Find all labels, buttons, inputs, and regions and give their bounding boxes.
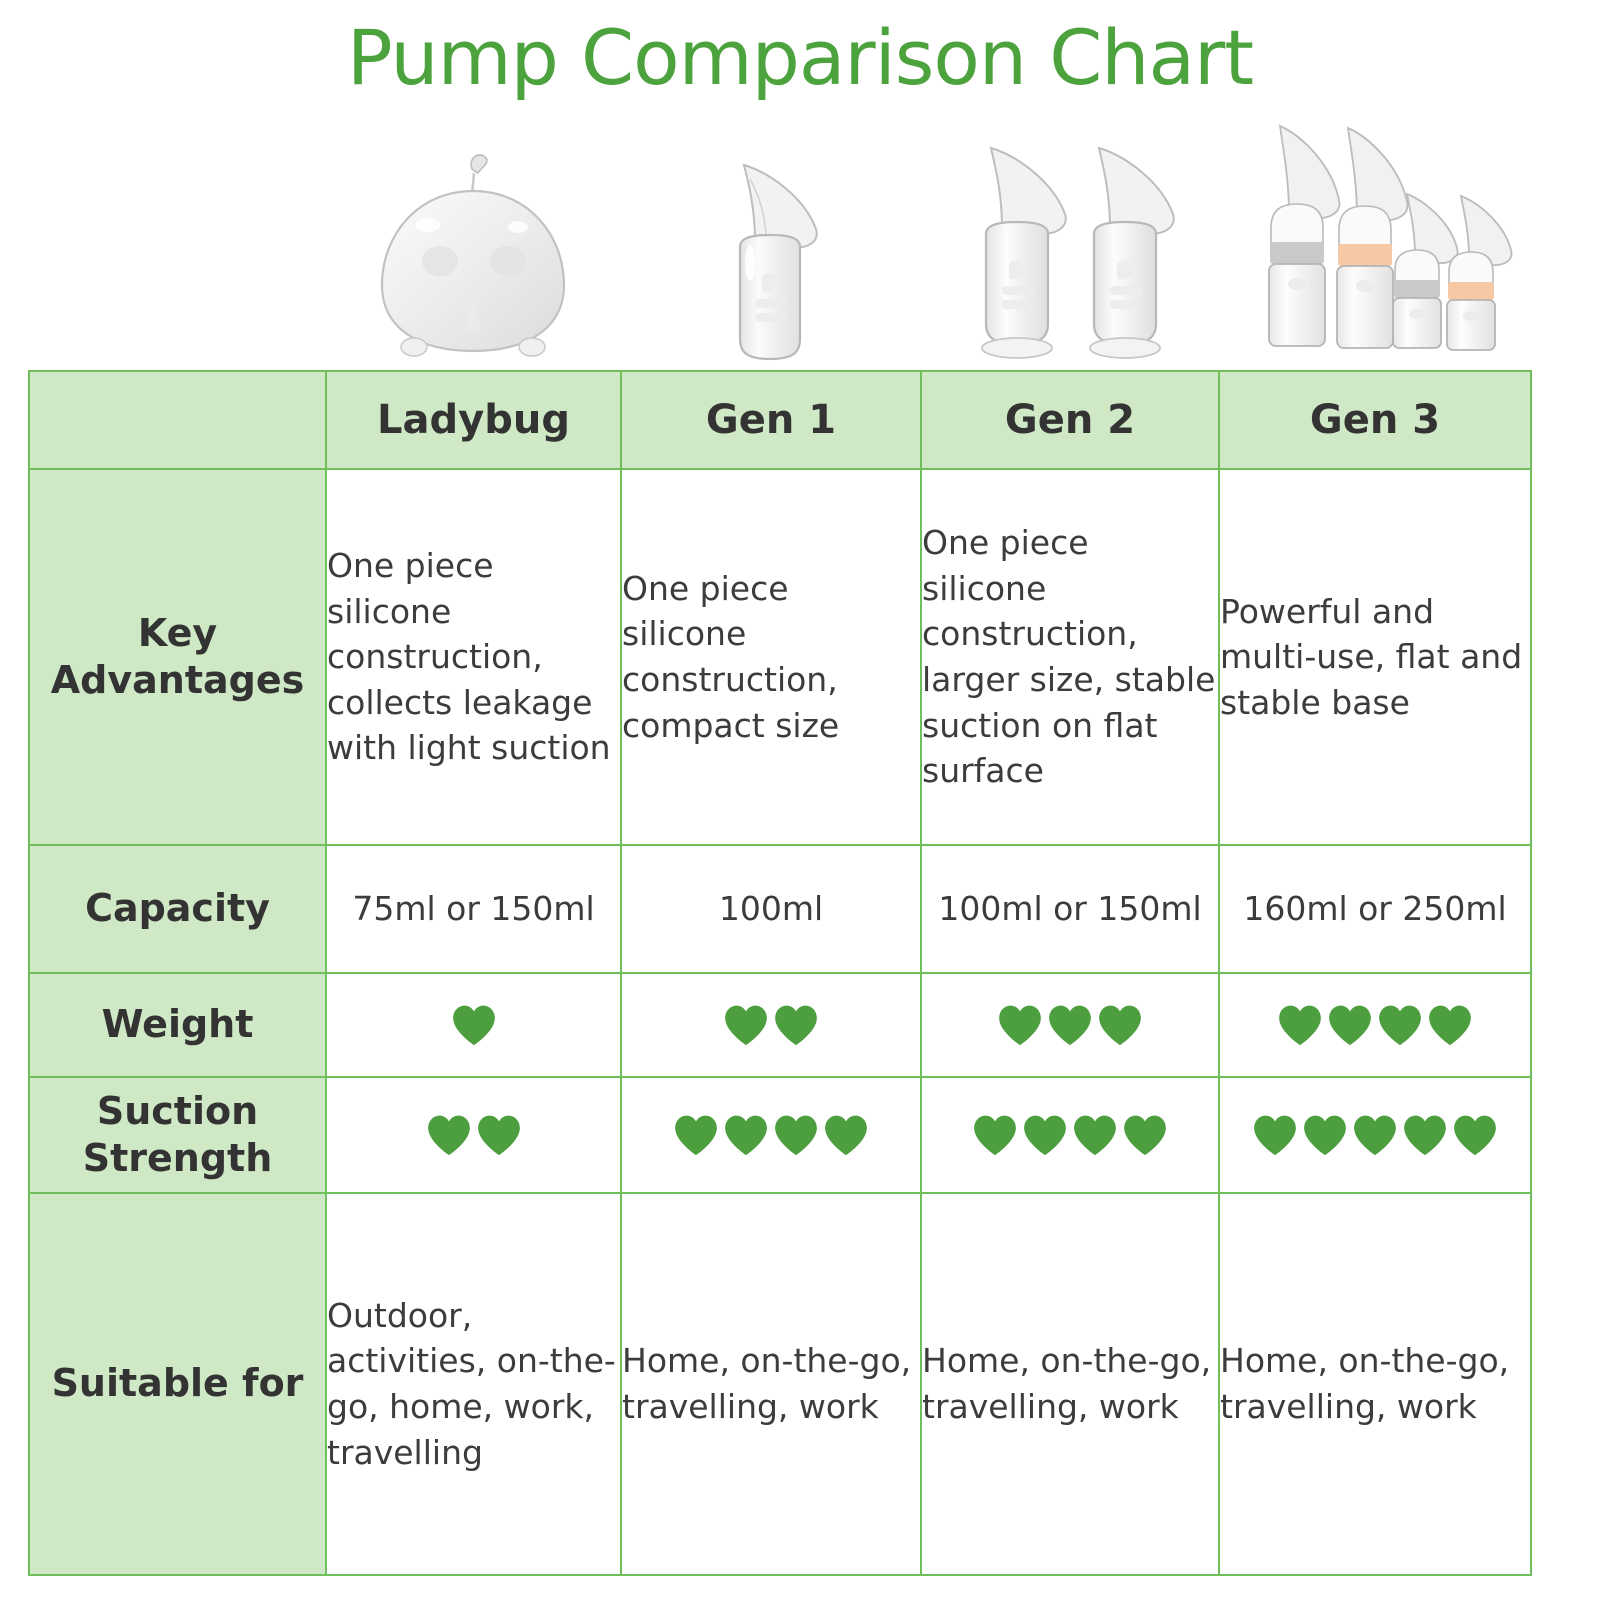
- heart-icon: [426, 1113, 472, 1157]
- heart-icon: [723, 1003, 769, 1047]
- cell-key_advantages-ladybug: One piece silicone construction, collect…: [326, 469, 621, 845]
- cell-capacity-ladybug: 75ml or 150ml: [326, 845, 621, 973]
- row-label-key_advantages: Key Advantages: [29, 469, 326, 845]
- heart-icon: [723, 1113, 769, 1157]
- pump-comparison-chart-page: Pump Comparison Chart: [0, 0, 1600, 1600]
- heart-icon: [1122, 1113, 1168, 1157]
- cell-suction_strength-gen3: [1219, 1077, 1531, 1193]
- heart-icon: [1047, 1003, 1093, 1047]
- cell-capacity-gen1: 100ml: [621, 845, 921, 973]
- heart-icon: [673, 1113, 719, 1157]
- page-title: Pump Comparison Chart: [0, 16, 1600, 100]
- heart-icon: [1377, 1003, 1423, 1047]
- row-label-capacity: Capacity: [29, 845, 326, 973]
- table-row-key_advantages: Key AdvantagesOne piece silicone constru…: [29, 469, 1531, 845]
- heart-icon: [1072, 1113, 1118, 1157]
- comparison-table: LadybugGen 1Gen 2Gen 3Key AdvantagesOne …: [28, 370, 1532, 1576]
- table-row-capacity: Capacity75ml or 150ml100ml100ml or 150ml…: [29, 845, 1531, 973]
- cell-capacity-gen2: 100ml or 150ml: [921, 845, 1219, 973]
- heart-icon: [451, 1003, 497, 1047]
- cell-suction_strength-ladybug: [326, 1077, 621, 1193]
- heart-icon: [997, 1003, 1043, 1047]
- cell-suitable_for-ladybug: Outdoor, activities, on-the-go, home, wo…: [326, 1193, 621, 1575]
- row-label-suction_strength: Suction Strength: [29, 1077, 326, 1193]
- heart-icon: [773, 1113, 819, 1157]
- cell-weight-gen3: [1219, 973, 1531, 1077]
- cell-weight-gen1: [621, 973, 921, 1077]
- cell-capacity-gen3: 160ml or 250ml: [1219, 845, 1531, 973]
- table-row-weight: Weight: [29, 973, 1531, 1077]
- gen2-two-silicone-pumps-photo: [920, 110, 1218, 368]
- heart-icon: [1277, 1003, 1323, 1047]
- cell-suction_strength-gen2: [921, 1077, 1219, 1193]
- comparison-table-body: LadybugGen 1Gen 2Gen 3Key AdvantagesOne …: [29, 371, 1531, 1575]
- product-photo-strip: [28, 110, 1530, 368]
- heart-icon: [1022, 1113, 1068, 1157]
- table-header-row: LadybugGen 1Gen 2Gen 3: [29, 371, 1531, 469]
- heart-icon: [1452, 1113, 1498, 1157]
- heart-icon: [1427, 1003, 1473, 1047]
- cell-key_advantages-gen2: One piece silicone construction, larger …: [921, 469, 1219, 845]
- column-header-ladybug: Ladybug: [326, 371, 621, 469]
- cell-suction_strength-gen1: [621, 1077, 921, 1193]
- heart-icon: [1097, 1003, 1143, 1047]
- ladybug-silicone-pump-photo: [325, 110, 620, 368]
- heart-icon: [1402, 1113, 1448, 1157]
- row-label-weight: Weight: [29, 973, 326, 1077]
- row-label-suitable_for: Suitable for: [29, 1193, 326, 1575]
- table-row-suitable_for: Suitable forOutdoor, activities, on-the-…: [29, 1193, 1531, 1575]
- cell-weight-ladybug: [326, 973, 621, 1077]
- heart-icon: [773, 1003, 819, 1047]
- heart-icon: [476, 1113, 522, 1157]
- cell-suitable_for-gen2: Home, on-the-go, travelling, work: [921, 1193, 1219, 1575]
- cell-weight-gen2: [921, 973, 1219, 1077]
- cell-suitable_for-gen1: Home, on-the-go, travelling, work: [621, 1193, 921, 1575]
- cell-key_advantages-gen3: Powerful and multi-use, flat and stable …: [1219, 469, 1531, 845]
- heart-icon: [972, 1113, 1018, 1157]
- heart-icon: [1352, 1113, 1398, 1157]
- gen1-silicone-pump-photo: [620, 110, 920, 368]
- gen3-four-bottles-photo: [1218, 110, 1530, 368]
- column-header-gen1: Gen 1: [621, 371, 921, 469]
- column-header-gen2: Gen 2: [921, 371, 1219, 469]
- table-row-suction_strength: Suction Strength: [29, 1077, 1531, 1193]
- heart-icon: [1327, 1003, 1373, 1047]
- heart-icon: [1302, 1113, 1348, 1157]
- cell-suitable_for-gen3: Home, on-the-go, travelling, work: [1219, 1193, 1531, 1575]
- header-corner-cell: [29, 371, 326, 469]
- heart-icon: [823, 1113, 869, 1157]
- cell-key_advantages-gen1: One piece silicone construction, compact…: [621, 469, 921, 845]
- column-header-gen3: Gen 3: [1219, 371, 1531, 469]
- heart-icon: [1252, 1113, 1298, 1157]
